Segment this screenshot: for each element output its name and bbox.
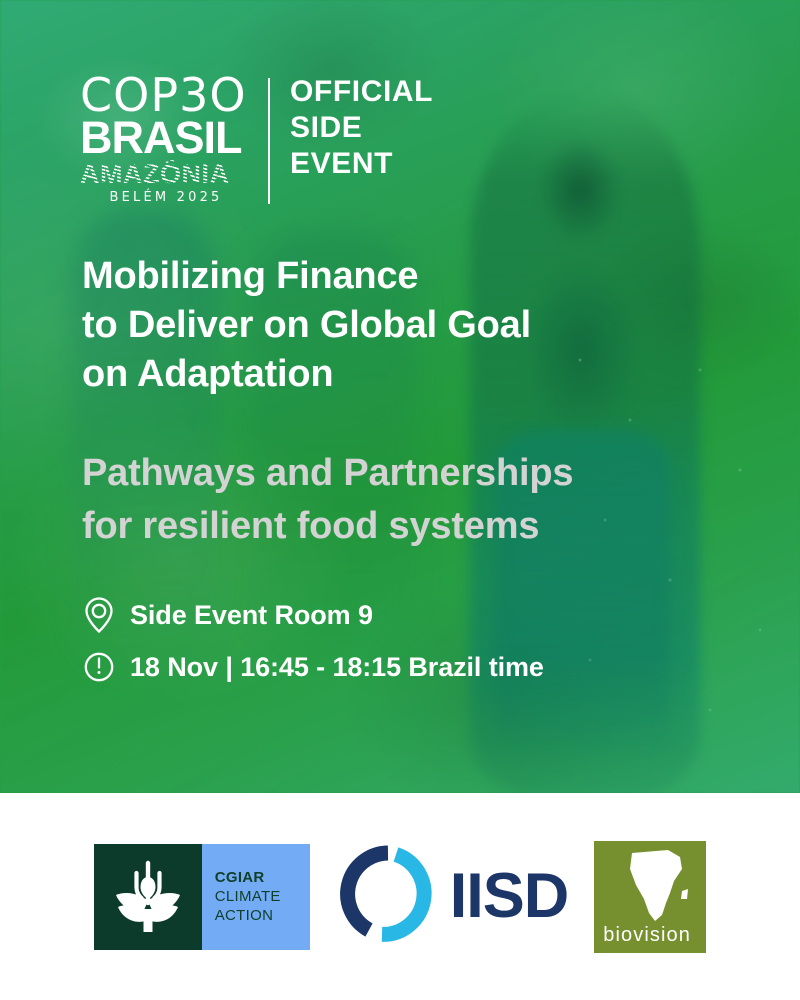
iisd-logo: IISD [336, 842, 569, 951]
event-poster: COP3O BRASIL AMAZÔNIA BELÉM 2025 OFFICIA… [0, 0, 800, 1000]
event-subtitle: Pathways and Partnerships for resilient … [82, 447, 762, 553]
logo-group: CGIAR CLIMATE ACTION IISD [94, 841, 707, 953]
cop30-logo: COP3O BRASIL AMAZÔNIA BELÉM 2025 [80, 74, 260, 206]
africa-map-icon [622, 847, 694, 927]
event-meta: Side Event Room 9 18 Nov | 16:45 - 18:15… [82, 596, 544, 700]
cop30-wordmark: COP3O [80, 74, 260, 116]
cgiar-climate-action-label: CGIAR CLIMATE ACTION [202, 844, 310, 950]
cgiar-wheat-icon [94, 844, 202, 950]
partner-logo-bar: CGIAR CLIMATE ACTION IISD [0, 793, 800, 1000]
location-pin-icon [82, 596, 116, 634]
badge-line-official: OFFICIAL [290, 74, 433, 110]
hero-banner: COP3O BRASIL AMAZÔNIA BELÉM 2025 OFFICIA… [0, 0, 800, 793]
title-line-1: Mobilizing Finance [82, 252, 742, 301]
title-line-2: to Deliver on Global Goal [82, 301, 742, 350]
title-line-3: on Adaptation [82, 350, 742, 399]
cgiar-logo: CGIAR CLIMATE ACTION [94, 844, 310, 950]
cop30-lockup: COP3O BRASIL AMAZÔNIA BELÉM 2025 OFFICIA… [80, 74, 433, 206]
biovision-wordmark: biovision [603, 924, 691, 947]
event-title: Mobilizing Finance to Deliver on Global … [82, 252, 742, 399]
iisd-ring-icon [336, 842, 440, 951]
official-side-event-badge: OFFICIAL SIDE EVENT [290, 74, 433, 182]
subtitle-line-2: for resilient food systems [82, 500, 762, 553]
location-label: Side Event Room 9 [130, 599, 373, 631]
iisd-wordmark: IISD [450, 865, 569, 928]
subtitle-line-1: Pathways and Partnerships [82, 447, 762, 500]
location-row: Side Event Room 9 [82, 596, 544, 634]
datetime-label: 18 Nov | 16:45 - 18:15 Brazil time [130, 651, 544, 683]
clock-icon [82, 648, 116, 686]
brasil-wordmark: BRASIL [80, 116, 260, 160]
cgiar-climate-label: CLIMATE [215, 887, 281, 906]
amazonia-wordmark: AMAZÔNIA [80, 160, 260, 189]
belem-year-label: BELÉM 2025 [80, 189, 252, 206]
datetime-row: 18 Nov | 16:45 - 18:15 Brazil time [82, 648, 544, 686]
badge-line-event: EVENT [290, 146, 433, 182]
cgiar-action-label: ACTION [215, 906, 273, 925]
badge-line-side: SIDE [290, 110, 433, 146]
cgiar-label: CGIAR [215, 868, 265, 887]
lockup-divider [268, 78, 270, 204]
biovision-logo: biovision [594, 841, 706, 953]
